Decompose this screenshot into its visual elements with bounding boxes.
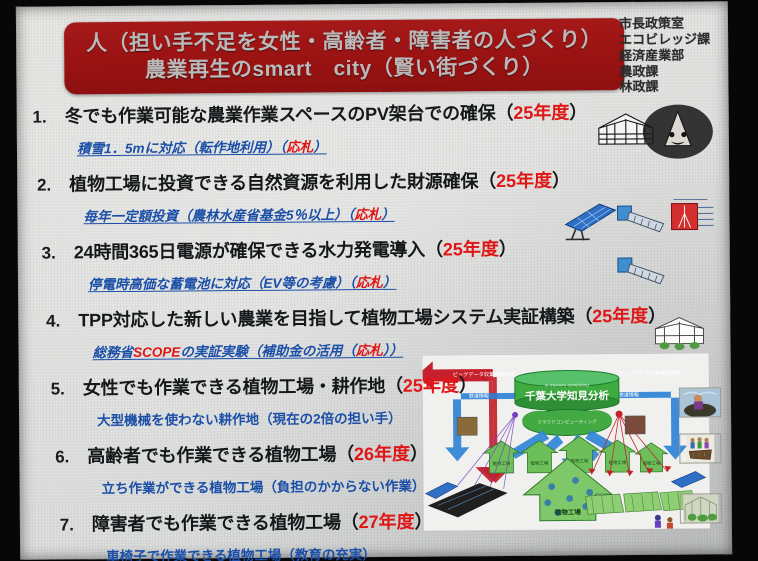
list-item: 6. 高齢者でも作業できる植物工場（26年度） 立ち作業ができる植物工場（負担の… [19, 437, 732, 511]
list-item: 5. 女性でも作業できる植物工場・耕作地（25年度） 大型機械を使わない耕作地（… [19, 369, 732, 443]
item-number: 2. [21, 176, 51, 196]
title-banner: 人（担い手不足を女性・高齢者・障害者の人づくり） 農業再生のsmart city… [64, 18, 625, 94]
item-text: 女性でも作業できる植物工場・耕作地（25年度） [83, 371, 477, 400]
list-item: 7. 障害者でも作業できる植物工場（27年度） 車椅子で作業できる植物工場（教育… [20, 505, 732, 561]
list-item: 3. 24時間365日電源が確保できる水力発電導入（25年度） 停電時高価な蓄電… [18, 233, 731, 307]
projector-screen-photo: 人（担い手不足を女性・高齢者・障害者の人づくり） 農業再生のsmart city… [0, 0, 758, 561]
item-text: 障害者でも作業できる植物工場（27年度） [92, 508, 433, 537]
list-item: 1. 冬でも作業可能な農業作業スペースのPV架台での確保（25年度） 積雪1．5… [17, 97, 730, 171]
item-text: 植物工場に投資できる自然資源を利用した財源確保（25年度） [69, 166, 570, 196]
item-number: 1. [17, 108, 47, 128]
presentation-slide: 人（担い手不足を女性・高齢者・障害者の人づくり） 農業再生のsmart city… [16, 1, 732, 560]
item-text: 24時間365日電源が確保できる水力発電導入（25年度） [74, 235, 517, 264]
item-number: 5. [35, 379, 65, 399]
item-number: 7. [44, 515, 74, 535]
list-item: 2. 植物工場に投資できる自然資源を利用した財源確保（25年度） 毎年一定額投資… [17, 165, 730, 239]
item-number: 6. [39, 447, 69, 467]
department-line-3: 農政課 [619, 63, 710, 80]
department-line-1: エコビレッジ課 [619, 31, 710, 48]
list-item: 4. TPP対応した新しい農業を目指して植物工場システム実証構築（25年度） 総… [18, 301, 731, 375]
department-line-0: 市長政策室 [619, 15, 710, 32]
numbered-list: 1. 冬でも作業可能な農業作業スペースのPV架台での確保（25年度） 積雪1．5… [17, 97, 733, 561]
department-line-2: 経済産業部 [619, 47, 710, 64]
title-line-1: 人（担い手不足を女性・高齢者・障害者の人づくり） [86, 27, 602, 58]
item-number: 3. [26, 243, 56, 263]
item-text: 高齢者でも作業できる植物工場（26年度） [87, 440, 428, 469]
title-line-2: 農業再生のsmart city（賢い街づくり） [145, 55, 544, 85]
department-line-4: 林政課 [619, 79, 710, 96]
item-number: 4. [30, 311, 60, 331]
department-block: 市長政策室 エコビレッジ課 経済産業部 農政課 林政課 [619, 15, 711, 95]
item-text: 冬でも作業可能な農業作業スペースのPV架台での確保（25年度） [65, 98, 588, 128]
item-text: TPP対応した新しい農業を目指して植物工場システム実証構築（25年度） [78, 302, 666, 333]
